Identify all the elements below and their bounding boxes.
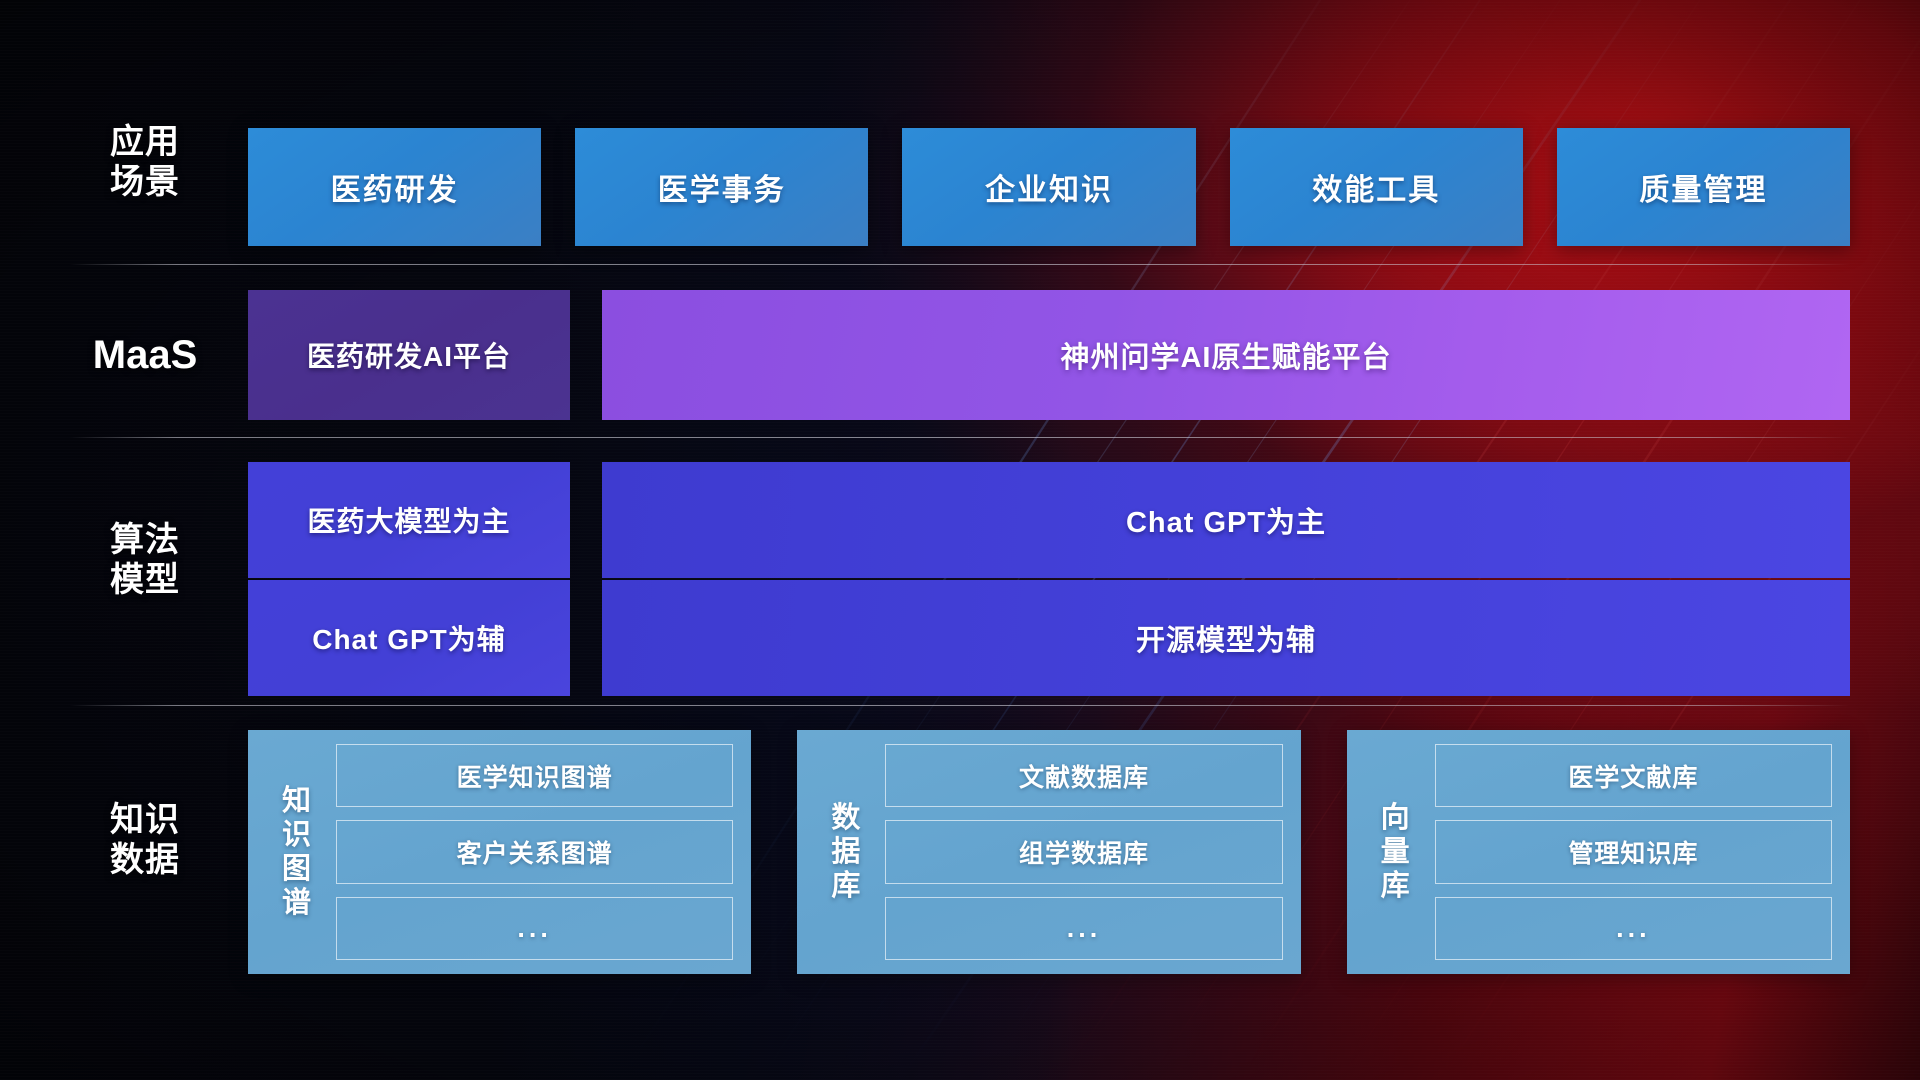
app-card-medical-affairs[interactable]: 医学事务: [575, 128, 868, 246]
app-card-enterprise-knowledge[interactable]: 企业知识: [902, 128, 1195, 246]
row-label-algorithm-line1: 算法: [70, 520, 220, 560]
maas-card-drug-rd-ai-platform[interactable]: 医药研发AI平台: [248, 290, 570, 420]
knowledge-group-title-database: 数 据 库: [807, 801, 885, 904]
knowledge-group-title-char: 知: [282, 784, 312, 818]
knowledge-group-title-char: 库: [1381, 869, 1411, 903]
knowledge-item-more[interactable]: ...: [885, 897, 1282, 960]
knowledge-item-more[interactable]: ...: [336, 897, 733, 960]
knowledge-group-title-char: 据: [831, 835, 861, 869]
knowledge-group-database: 数 据 库 文献数据库 组学数据库 ...: [797, 730, 1300, 974]
knowledge-item-label: 文献数据库: [1019, 758, 1149, 794]
knowledge-item-label: ...: [1067, 913, 1102, 944]
algo-card-chatgpt-primary[interactable]: Chat GPT为主: [602, 462, 1850, 578]
knowledge-item-label: 组学数据库: [1019, 834, 1149, 870]
knowledge-group-title-vector-store: 向 量 库: [1357, 801, 1435, 904]
knowledge-item-omics-database[interactable]: 组学数据库: [885, 820, 1282, 883]
row-label-knowledge-line2: 数据: [70, 840, 220, 880]
knowledge-group-knowledge-graph: 知 识 图 谱 医学知识图谱 客户关系图谱 ...: [248, 730, 751, 974]
maas-card-shenzhou-wenxue-platform[interactable]: 神州问学AI原生赋能平台: [602, 290, 1850, 420]
algorithm-row-primary: 医药大模型为主 Chat GPT为主: [248, 462, 1850, 578]
app-card-label: 医药研发: [331, 165, 459, 209]
knowledge-item-label: 客户关系图谱: [457, 834, 613, 870]
diagram-content: 应用 场景 医药研发 医学事务 企业知识 效能工具 质量管理 MaaS: [0, 0, 1920, 1080]
knowledge-item-literature-database[interactable]: 文献数据库: [885, 744, 1282, 807]
app-card-label: 企业知识: [985, 165, 1113, 209]
knowledge-item-label: ...: [1616, 913, 1651, 944]
knowledge-group-title-char: 数: [831, 801, 861, 835]
knowledge-group-title-char: 量: [1381, 835, 1411, 869]
row-label-knowledge-line1: 知识: [70, 800, 220, 840]
ai-architecture-diagram: 应用 场景 医药研发 医学事务 企业知识 效能工具 质量管理 MaaS: [0, 0, 1920, 1080]
divider-application-maas: [70, 264, 1850, 265]
algo-card-chatgpt-secondary[interactable]: Chat GPT为辅: [248, 580, 570, 696]
knowledge-item-customer-relation-graph[interactable]: 客户关系图谱: [336, 820, 733, 883]
maas-card-label: 神州问学AI原生赋能平台: [1060, 334, 1391, 376]
knowledge-item-list: 医学知识图谱 客户关系图谱 ...: [336, 744, 733, 960]
knowledge-item-list: 医学文献库 管理知识库 ...: [1435, 744, 1832, 960]
knowledge-item-label: 医学知识图谱: [457, 758, 613, 794]
app-card-quality-management[interactable]: 质量管理: [1557, 128, 1850, 246]
knowledge-item-medical-knowledge-graph[interactable]: 医学知识图谱: [336, 744, 733, 807]
knowledge-item-label: 管理知识库: [1568, 834, 1698, 870]
maas-card-row: 医药研发AI平台 神州问学AI原生赋能平台: [248, 290, 1850, 420]
knowledge-group-title-char: 谱: [282, 886, 312, 920]
knowledge-group-title-char: 向: [1381, 801, 1411, 835]
row-label-application: 应用 场景: [70, 122, 220, 202]
knowledge-item-label: ...: [517, 913, 552, 944]
app-card-label: 质量管理: [1639, 165, 1767, 209]
app-card-efficiency-tools[interactable]: 效能工具: [1230, 128, 1523, 246]
knowledge-item-list: 文献数据库 组学数据库 ...: [885, 744, 1282, 960]
row-label-maas-line1: MaaS: [70, 332, 220, 379]
maas-card-label: 医药研发AI平台: [307, 335, 511, 375]
algo-card-label: Chat GPT为辅: [312, 618, 506, 658]
knowledge-item-medical-literature-store[interactable]: 医学文献库: [1435, 744, 1832, 807]
knowledge-group-title-char: 识: [282, 818, 312, 852]
row-label-maas: MaaS: [70, 332, 220, 379]
divider-algorithm-knowledge: [70, 705, 1850, 706]
row-label-knowledge: 知识 数据: [70, 800, 220, 880]
knowledge-group-row: 知 识 图 谱 医学知识图谱 客户关系图谱 ...: [248, 730, 1850, 974]
divider-maas-algorithm: [70, 437, 1850, 438]
knowledge-group-title-char: 图: [282, 852, 312, 886]
algo-card-label: 开源模型为辅: [1136, 617, 1316, 659]
knowledge-item-label: 医学文献库: [1568, 758, 1698, 794]
knowledge-group-title-char: 库: [831, 869, 861, 903]
algo-card-opensource-secondary[interactable]: 开源模型为辅: [602, 580, 1850, 696]
knowledge-group-title-knowledge-graph: 知 识 图 谱: [258, 784, 336, 921]
row-label-application-line1: 应用: [70, 122, 220, 162]
algorithm-card-rows: 医药大模型为主 Chat GPT为主 Chat GPT为辅 开源模型为辅: [248, 462, 1850, 696]
app-card-label: 医学事务: [658, 165, 786, 209]
row-label-application-line2: 场景: [70, 162, 220, 202]
app-card-drug-rd[interactable]: 医药研发: [248, 128, 541, 246]
knowledge-group-vector-store: 向 量 库 医学文献库 管理知识库 ...: [1347, 730, 1850, 974]
knowledge-item-management-knowledge-store[interactable]: 管理知识库: [1435, 820, 1832, 883]
algo-card-label: Chat GPT为主: [1126, 499, 1326, 541]
knowledge-item-more[interactable]: ...: [1435, 897, 1832, 960]
row-label-algorithm: 算法 模型: [70, 520, 220, 600]
algorithm-row-secondary: Chat GPT为辅 开源模型为辅: [248, 580, 1850, 696]
application-card-row: 医药研发 医学事务 企业知识 效能工具 质量管理: [248, 128, 1850, 246]
app-card-label: 效能工具: [1312, 165, 1440, 209]
algo-card-pharma-llm-primary[interactable]: 医药大模型为主: [248, 462, 570, 578]
row-label-algorithm-line2: 模型: [70, 560, 220, 600]
algo-card-label: 医药大模型为主: [307, 500, 510, 540]
